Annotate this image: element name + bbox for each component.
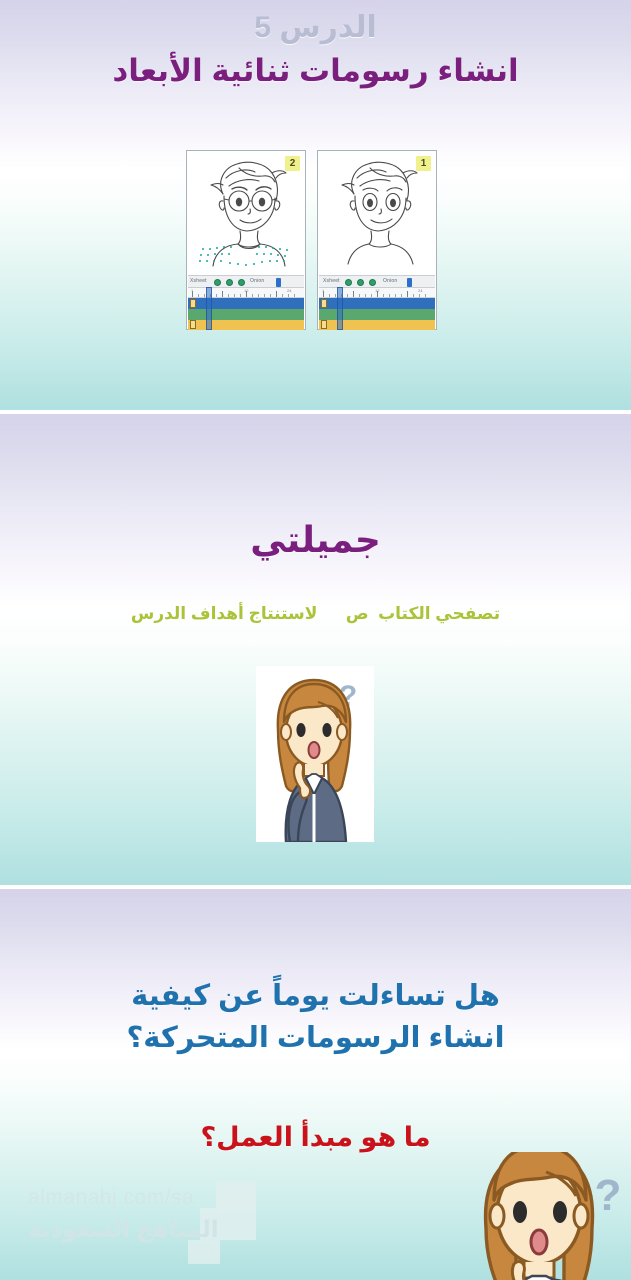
ruler-number-1-a: 1	[191, 288, 193, 293]
toolbar-dot-icon-c1	[369, 279, 376, 286]
toolbar-dot-icon-b2	[226, 279, 233, 286]
ruler-number-24-b: 24	[418, 288, 422, 293]
lesson-main-title: انشاء رسومات ثنائية الأبعاد	[0, 50, 631, 92]
question-blue-block: هل تساءلت يوماً عن كيفية انشاء الرسومات …	[0, 975, 631, 1059]
ruler-number-12-a: 12	[244, 288, 248, 293]
thinking-woman-illustration: ?	[256, 666, 374, 842]
timeline-playhead-1[interactable]	[337, 287, 343, 330]
software-pane-frame-2: 2	[186, 150, 306, 330]
animation-software-screenshot: 2	[186, 150, 438, 330]
thinking-woman-svg: ?	[256, 666, 374, 842]
layer-chip-blue-1[interactable]	[321, 299, 327, 308]
lesson-number-title: الدرس 5	[0, 8, 631, 48]
thinking-woman-corner-svg: ?	[468, 1152, 631, 1280]
frame-badge-1: 1	[416, 156, 431, 171]
ruler-number-24-a: 24	[287, 288, 291, 293]
toolbar-dot-icon-c2	[238, 279, 245, 286]
timeline-playhead-2[interactable]	[206, 287, 212, 330]
question-blue-line-2: انشاء الرسومات المتحركة؟	[0, 1017, 631, 1059]
watermark-logo-block-a	[216, 1182, 256, 1208]
thinking-woman-corner-illustration: ?	[468, 1152, 631, 1280]
toolbar-dot-icon-a1	[345, 279, 352, 286]
watermark-arabic-label: المناهج السعودية	[28, 1216, 219, 1243]
watermark: almanahj.com/sa المناهج السعودية	[28, 1186, 318, 1266]
toolbar-label-onion-1: Onion	[383, 278, 397, 284]
toolbar-label-xsheet-2: Xsheet	[190, 278, 207, 284]
toolbar-slider-handle-1	[407, 278, 412, 287]
slide-page: الدرس 5 انشاء رسومات ثنائية الأبعاد 2	[0, 0, 631, 1280]
beauty-subtitle: تصفحي الكتاب ص لاستنتاج أهداف الدرس	[0, 602, 631, 626]
layer-chip-blue-2[interactable]	[190, 299, 196, 308]
toolbar-dot-icon-a2	[214, 279, 221, 286]
layer-chip-yellow-2[interactable]	[190, 320, 196, 329]
toolbar-label-xsheet-1: Xsheet	[323, 278, 340, 284]
ruler-number-12-b: 12	[375, 288, 379, 293]
ruler-number-1-b: 1	[322, 288, 324, 293]
drawing-canvas-1: 1	[319, 152, 435, 274]
question-red-line: ما هو مبدأ العمل؟	[0, 1118, 631, 1156]
boy-face-drawing-1	[324, 154, 432, 272]
drawing-canvas-2: 2	[188, 152, 304, 274]
toolbar-slider-handle-2	[276, 278, 281, 287]
watermark-logo-block-c	[188, 1240, 220, 1264]
toolbar-label-onion-2: Onion	[250, 278, 264, 284]
layer-chip-yellow-1[interactable]	[321, 320, 327, 329]
software-pane-frame-1: 1	[317, 150, 437, 330]
beauty-heading: جميلتي	[0, 516, 631, 564]
title-block: الدرس 5 انشاء رسومات ثنائية الأبعاد	[0, 8, 631, 92]
watermark-url: almanahj.com/sa	[28, 1186, 194, 1210]
toolbar-dot-icon-b1	[357, 279, 364, 286]
frame-badge-2: 2	[285, 156, 300, 171]
svg-text:?: ?	[595, 1171, 622, 1220]
question-blue-line-1: هل تساءلت يوماً عن كيفية	[0, 975, 631, 1017]
